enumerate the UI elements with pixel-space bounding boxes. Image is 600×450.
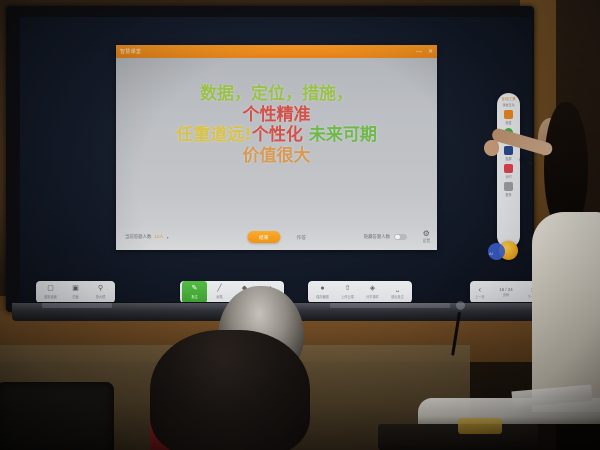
answer-count-group[interactable]: 当前答题人数 12人 ▾ [125,234,169,240]
floating-toolbar-header: 互动工具 [501,97,515,102]
toolbar-right-group[interactable]: ● 保存截图 ⇧ 上传云端 ◈ 分享课件 ⎵ 退出批注 [308,281,412,302]
window-controls: — ✕ [416,49,433,55]
slide-line-1: 数据，定位，措施， [116,84,437,105]
cast-icon [504,146,513,155]
ai-badge-label: AI [489,251,493,256]
prev-page-button[interactable]: ‹ 上一页 [475,286,485,299]
slide-segment: 任重道远! [176,125,252,145]
save-icon: ● [320,285,324,294]
tool-annotate[interactable]: ✎ 批注 [182,281,207,302]
upload-icon: ⇧ [345,285,351,294]
whiteboard-icon: ▣ [72,285,79,294]
exit-icon: ⎵ [396,285,399,294]
tool-label: 保存截图 [316,294,329,299]
tool-label: 分享课件 [366,294,379,299]
tool-label: 回到桌面 [44,294,57,299]
page-indicator-group: 16 / 24 页码 [499,287,512,297]
photo-scene: 智慧课堂 — ✕ 数据，定位，措施， 个性精准 [0,0,600,450]
chevron-left-icon: ‹ [478,286,481,294]
presenter-hair [544,102,588,230]
hide-count-toggle[interactable] [394,234,407,241]
annotate-icon: ✎ [192,285,198,294]
tool-exit[interactable]: ⎵ 退出批注 [385,281,410,302]
chevron-down-icon[interactable]: ▾ [167,235,169,240]
interactive-panel-frame: 智慧课堂 — ✕ 数据，定位，措施， 个性精准 [6,6,534,312]
timer-icon [504,164,513,173]
prev-page-label: 上一页 [475,294,485,299]
hide-count-toggle-group[interactable]: 隐藏答题人数 [364,234,407,241]
app-content-area: 数据，定位，措施， 个性精准 任重道远!个性化 未来可期 价值很大 [116,58,437,250]
tool-label: 放大镜 [96,294,106,299]
tool-label: 批注 [191,294,197,299]
tool-label: 上传云端 [341,294,354,299]
hide-count-label: 隐藏答题人数 [364,234,390,240]
panel-port-strip [330,303,450,308]
floating-toolbar-subheader: 课堂互动 [502,103,514,107]
end-button[interactable]: 结束 [247,231,281,243]
magnifier-icon: ⚲ [98,285,103,294]
tool-save[interactable]: ● 保存截图 [310,281,335,302]
slide-segment: 个性化 [252,125,303,145]
slide-segment: 未来可期 [303,125,377,145]
presenter [528,96,600,396]
tool-whiteboard[interactable]: ▣ 白板 [63,281,88,302]
audience-member-dark-hair [150,330,310,450]
app-action-group: 结束 作答 [247,231,306,243]
share-icon: ◈ [370,285,375,294]
toggle-knob [395,235,400,240]
floating-toolbar[interactable]: 互动工具 课堂互动 抢答 随机 投屏 计时 [497,93,520,248]
close-icon[interactable]: ✕ [428,49,433,55]
floating-tool-label: 抢答 [505,120,511,125]
toolbar-left-group[interactable]: ▢ 回到桌面 ▣ 白板 ⚲ 放大镜 [36,281,115,302]
slide-segment: 价值很大 [243,146,311,166]
floating-tool-label: 更多 [505,192,511,197]
page-navigation[interactable]: ‹ 上一页 16 / 24 页码 › 下一页 [470,281,532,302]
panel-screen: 智慧课堂 — ✕ 数据，定位，措施， 个性精准 [20,17,532,302]
tool-label: 退出批注 [391,294,404,299]
tool-label: 白板 [72,294,78,299]
home-icon: ▢ [47,285,54,294]
slide-segment: 数据，定位，措施， [200,84,353,104]
app-title: 智慧课堂 [120,48,141,55]
slide-line-3: 任重道远!个性化 未来可期 [116,125,437,146]
floating-tool-item[interactable]: 投屏 [497,146,520,161]
tool-upload[interactable]: ⇧ 上传云端 [335,281,360,302]
app-titlebar: 智慧课堂 — ✕ [116,45,437,58]
tool-pen[interactable]: ╱ 画笔 [207,281,232,302]
tool-home[interactable]: ▢ 回到桌面 [38,281,63,302]
pen-icon: ╱ [217,285,221,294]
slide-segment: 个性精准 [243,105,311,125]
slide-line-2: 个性精准 [116,105,437,126]
app-window[interactable]: 智慧课堂 — ✕ 数据，定位，措施， 个性精准 [116,45,437,250]
more-icon [504,182,513,191]
answer-button[interactable]: 作答 [297,234,307,241]
presenter-hand [484,140,499,156]
slide-line-4: 价值很大 [116,146,437,167]
foreground-object [458,418,502,434]
floating-tool-item[interactable]: 计时 [497,164,520,179]
panel-brand-logo [42,303,112,308]
answer-count-label: 当前答题人数 [125,234,151,240]
tool-share[interactable]: ◈ 分享课件 [360,281,385,302]
settings-button[interactable]: ⚙ 设置 [422,230,430,244]
slide-text-block: 数据，定位，措施， 个性精准 任重道远!个性化 未来可期 价值很大 [116,84,437,167]
gear-icon: ⚙ [423,230,430,238]
settings-label: 设置 [422,239,430,244]
minimize-button[interactable]: — [416,49,422,55]
hand-raise-icon [504,110,513,119]
chair [0,382,114,450]
app-bottom-bar: 当前答题人数 12人 ▾ 结束 作答 隐藏答题人数 [116,224,437,250]
presenter-body [532,212,600,412]
page-indicator-label: 页码 [503,292,509,297]
panel-power-button[interactable] [456,301,465,310]
tool-magnifier[interactable]: ⚲ 放大镜 [88,281,113,302]
floating-tool-item[interactable]: 更多 [497,182,520,197]
floating-tool-item[interactable]: 抢答 [497,110,520,125]
floating-tool-label: 投屏 [505,156,511,161]
floating-tool-label: 计时 [505,174,511,179]
answer-count-value: 12人 [154,234,163,240]
tool-label: 画笔 [216,294,222,299]
